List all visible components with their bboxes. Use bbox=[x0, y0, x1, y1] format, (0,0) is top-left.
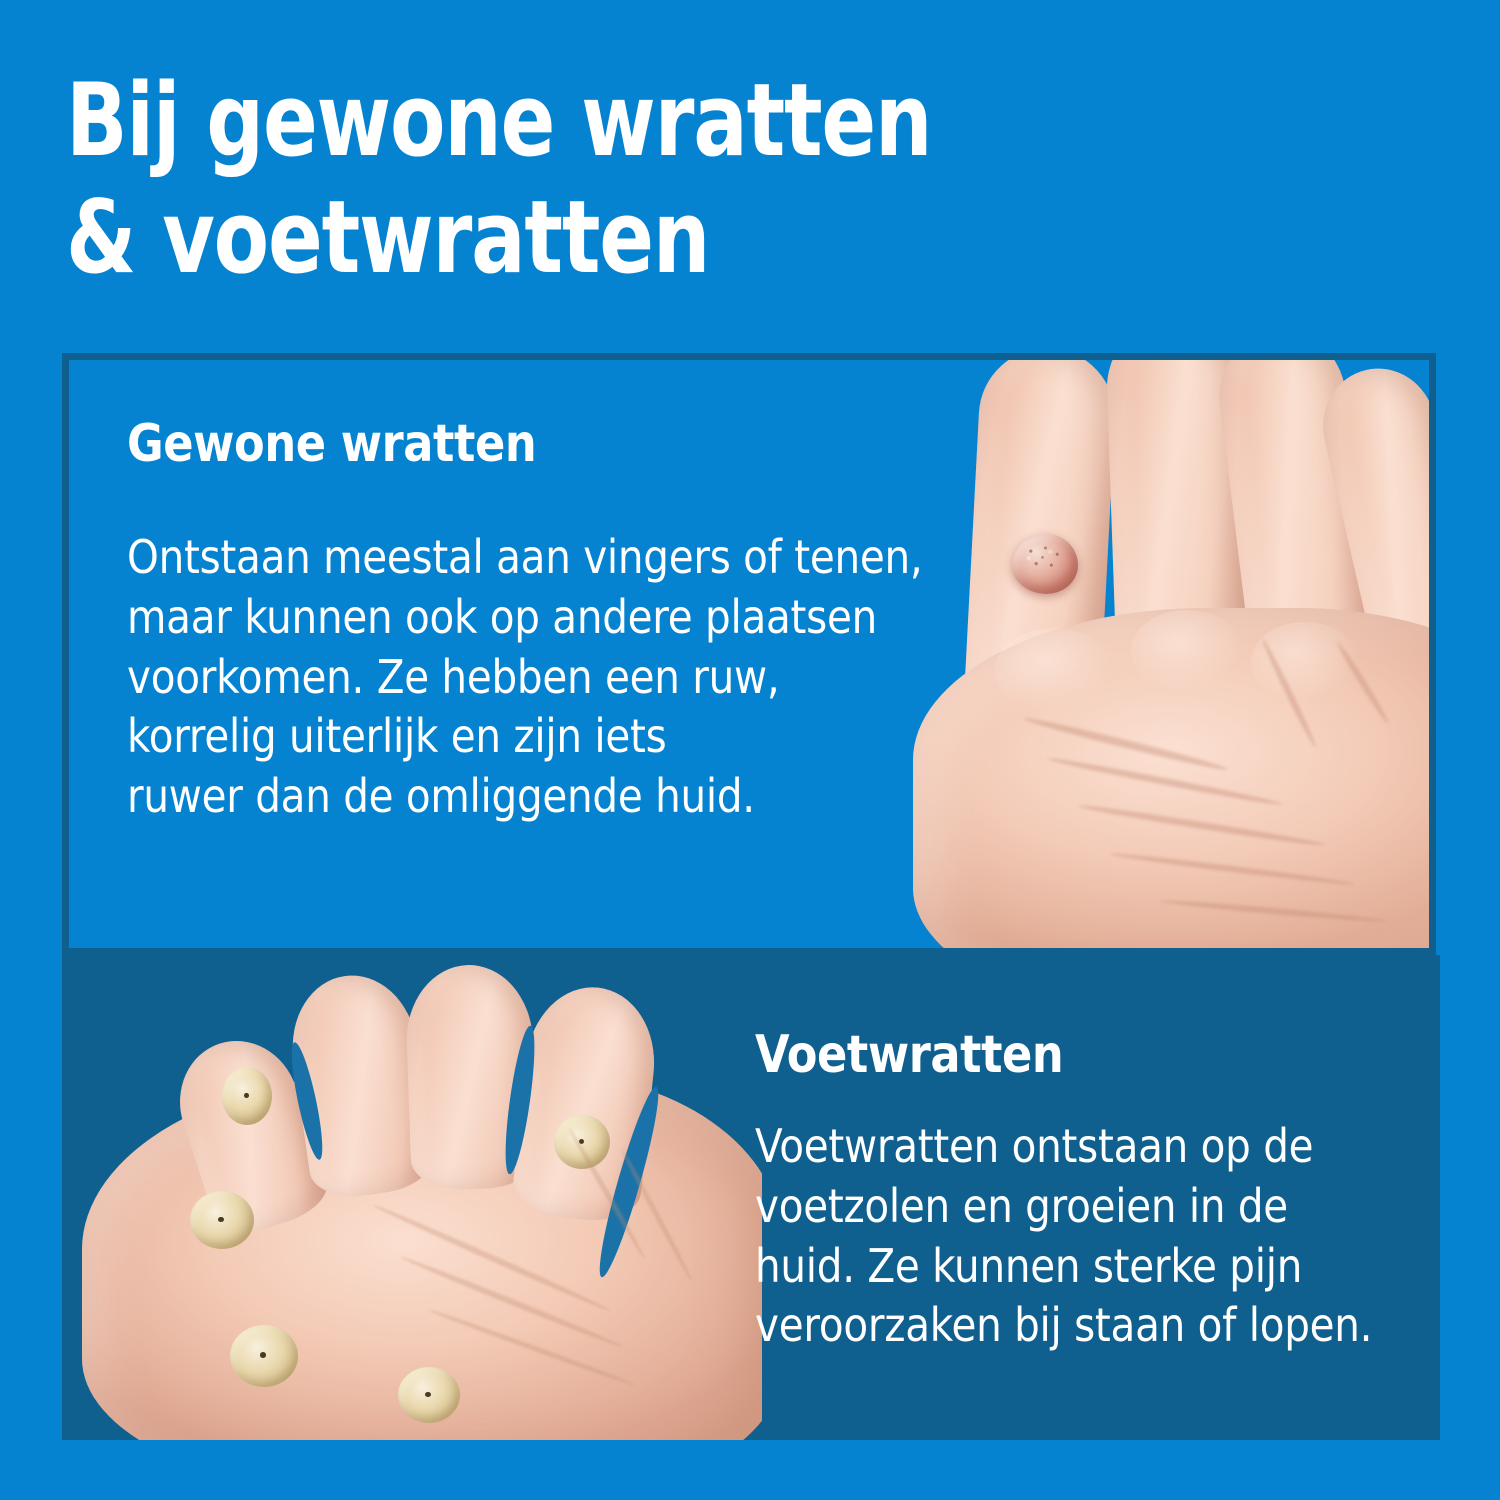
plantar-wart-lesion bbox=[554, 1115, 610, 1169]
infographic-poster: Bij gewone wratten & voetwratten bbox=[0, 0, 1500, 1500]
page-title: Bij gewone wratten & voetwratten bbox=[66, 62, 1026, 296]
panel-body-voetwratten: Voetwratten ontstaan op de voetzolen en … bbox=[755, 1117, 1440, 1356]
plantar-wart-lesion bbox=[398, 1367, 460, 1423]
plantar-wart-lesion bbox=[222, 1067, 272, 1125]
plantar-wart-lesion bbox=[190, 1191, 254, 1249]
plantar-wart-lesion bbox=[230, 1325, 298, 1387]
foot-sole-with-plantar-warts-photo bbox=[62, 955, 762, 1440]
panel-body-gewone-wratten: Ontstaan meestal aan vingers of tenen, m… bbox=[127, 528, 1139, 827]
panel-heading-voetwratten: Voetwratten bbox=[755, 1027, 1063, 1084]
panel-heading-gewone-wratten: Gewone wratten bbox=[127, 416, 536, 473]
panel-voetwratten: Voetwratten Voetwratten ontstaan op de v… bbox=[62, 955, 1440, 1440]
panel-gewone-wratten: Gewone wratten Ontstaan meestal aan ving… bbox=[62, 353, 1436, 955]
